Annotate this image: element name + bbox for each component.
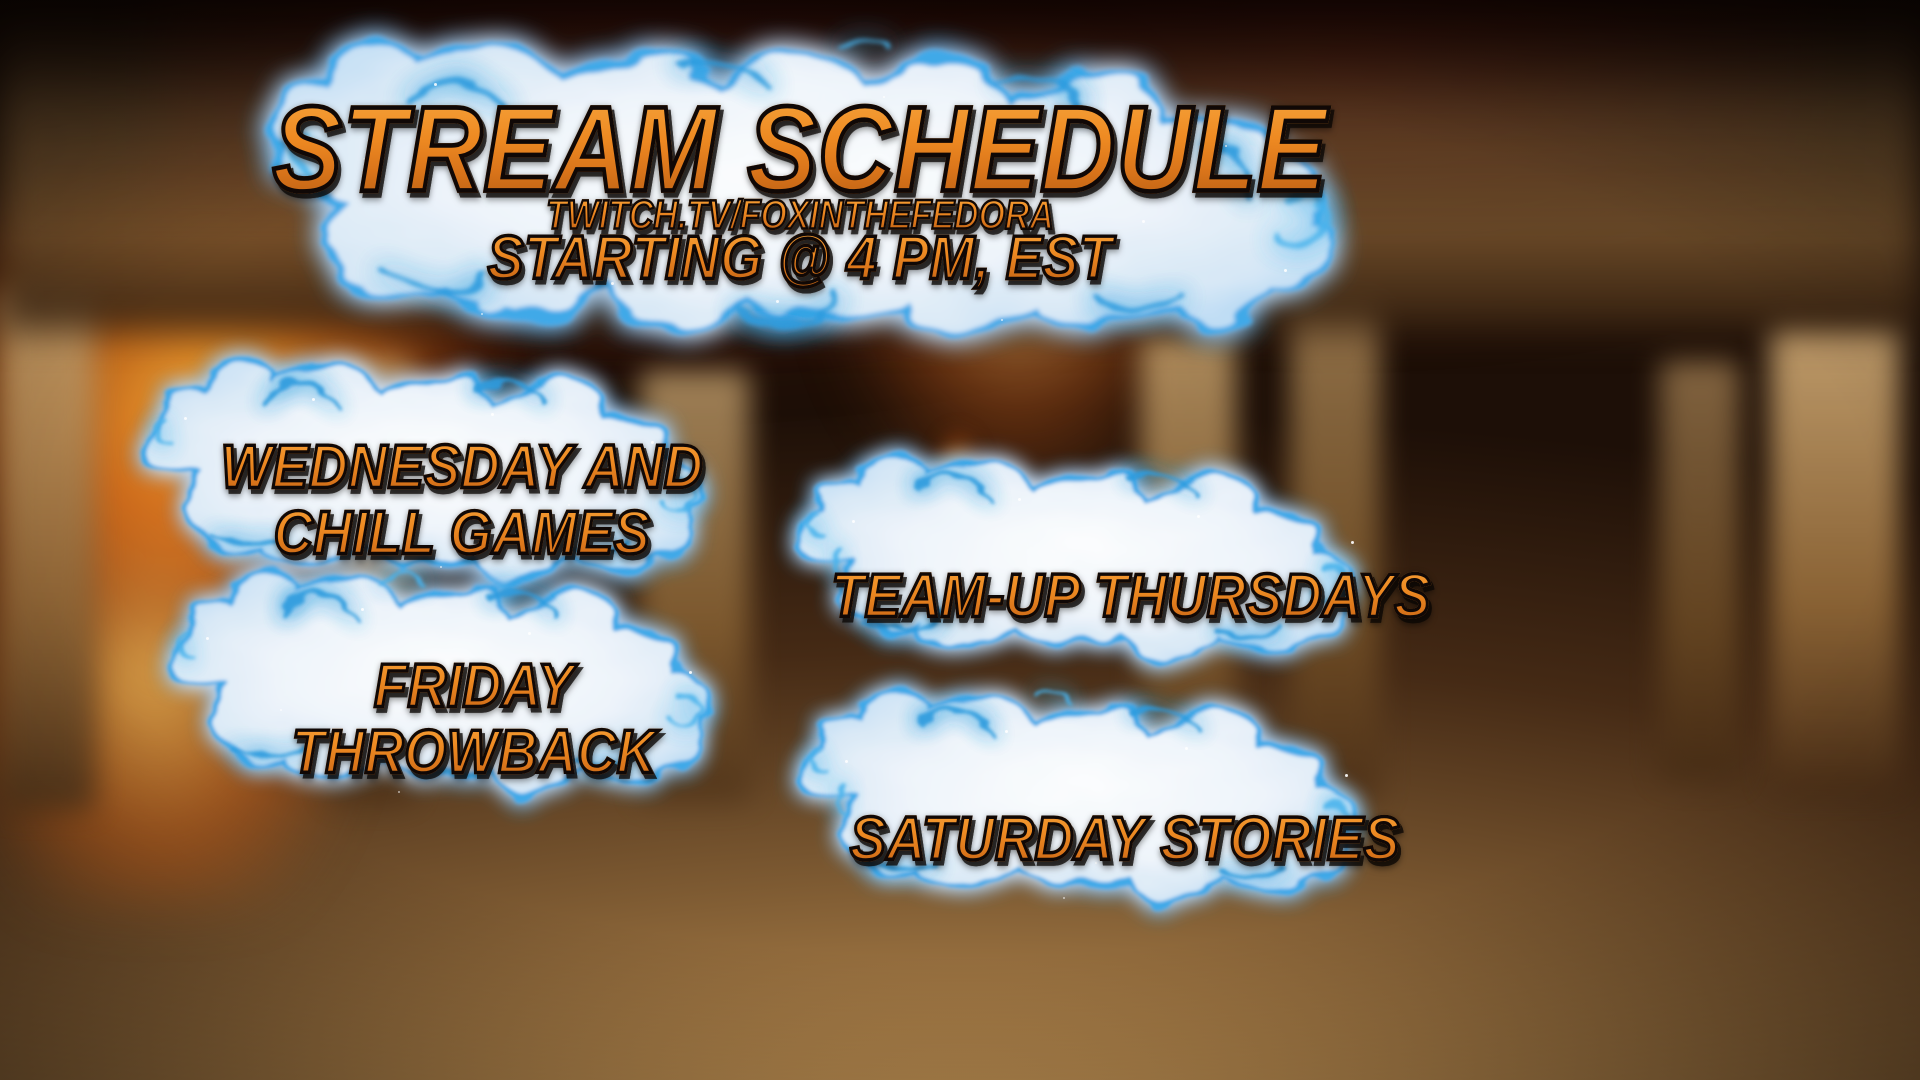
title-banner: STREAM SCHEDULE TWITCH.TV/FOXINTHEFEDORA…: [210, 40, 1390, 350]
title-text-block: STREAM SCHEDULE TWITCH.TV/FOXINTHEFEDORA…: [210, 98, 1390, 292]
schedule-line-1: FRIDAY: [164, 650, 784, 725]
schedule-line-2: CHILL GAMES: [142, 496, 782, 571]
schedule-banner-saturday: SATURDAY STORIES: [775, 690, 1415, 910]
schedule-banner-wednesday: WEDNESDAY AND CHILL GAMES: [120, 355, 760, 595]
schedule-text-block: FRIDAY THROWBACK: [164, 654, 784, 786]
schedule-banner-friday: FRIDAY THROWBACK: [150, 570, 770, 810]
schedule-banner-thursday: TEAM-UP THURSDAYS: [775, 455, 1415, 670]
schedule-line-1: SATURDAY STORIES: [805, 802, 1445, 877]
schedule-text-block: WEDNESDAY AND CHILL GAMES: [142, 435, 782, 567]
schedule-text-block: SATURDAY STORIES: [805, 807, 1445, 873]
start-time-label: STARTING @ 4 PM, EST: [210, 226, 1390, 291]
schedule-line-2: THROWBACK: [164, 715, 784, 790]
schedule-text-block: TEAM-UP THURSDAYS: [811, 564, 1451, 630]
schedule-line-1: TEAM-UP THURSDAYS: [811, 559, 1451, 634]
stream-schedule-graphic: STREAM SCHEDULE TWITCH.TV/FOXINTHEFEDORA…: [0, 0, 1920, 1080]
schedule-line-1: WEDNESDAY AND: [142, 431, 782, 506]
